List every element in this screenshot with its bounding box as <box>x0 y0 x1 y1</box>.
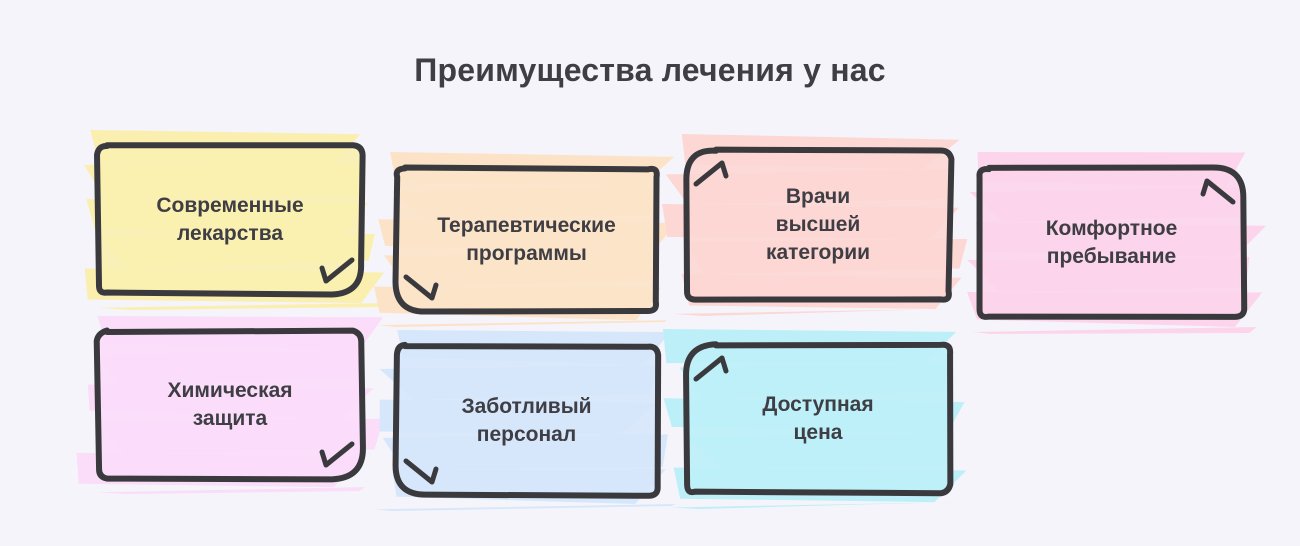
benefit-card-top-category-doctors[interactable]: Врачи высшей категории <box>686 150 950 300</box>
benefit-card-caring-staff[interactable]: Заботливый персонал <box>396 346 657 495</box>
benefit-card-therapeutic-programs[interactable]: Терапевтические программы <box>396 168 657 311</box>
benefits-infographic: Преимущества лечения у нас Современные л… <box>0 0 1300 546</box>
benefit-card-artwork <box>950 138 1273 348</box>
benefit-card-artwork <box>366 316 687 525</box>
benefit-card-artwork <box>656 120 980 330</box>
benefit-card-artwork <box>68 116 392 324</box>
benefit-card-affordable-price[interactable]: Доступная цена <box>686 345 950 493</box>
benefit-card-modern-medicines[interactable]: Современные лекарства <box>98 146 362 294</box>
benefit-card-comfortable-stay[interactable]: Комфортное пребывание <box>980 168 1243 318</box>
benefit-card-artwork <box>366 138 687 341</box>
page-title: Преимущества лечения у нас <box>0 48 1300 92</box>
benefit-card-chemical-protection[interactable]: Химическая защита <box>98 332 362 478</box>
benefit-card-artwork <box>656 315 980 523</box>
benefit-card-artwork <box>68 302 392 508</box>
